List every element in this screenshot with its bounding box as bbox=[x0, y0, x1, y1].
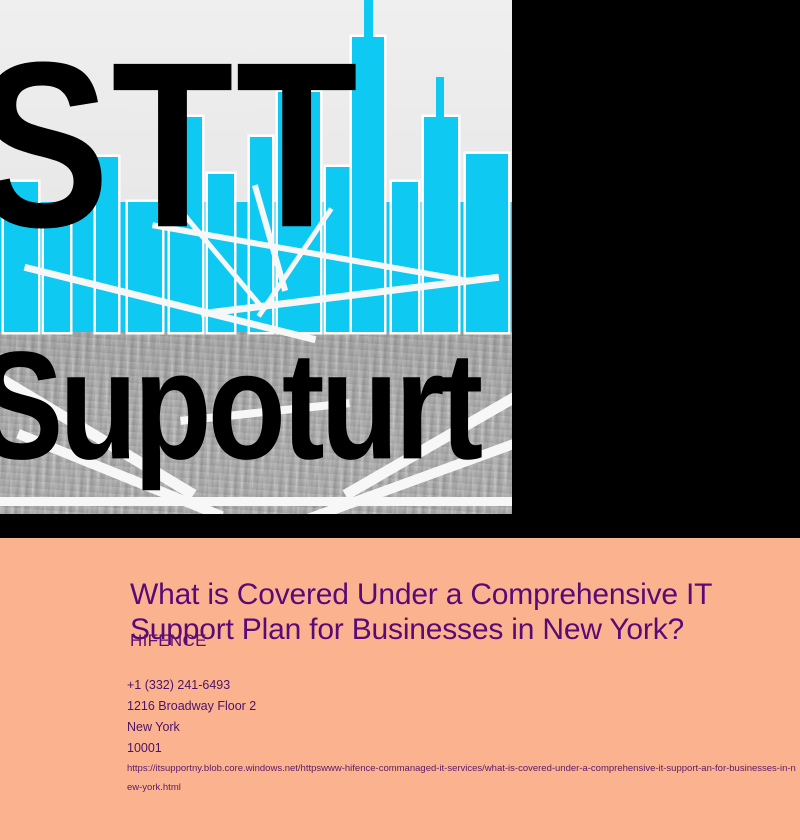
contact-phone[interactable]: +1 (332) 241-6493 bbox=[127, 675, 792, 696]
road-marking bbox=[0, 497, 512, 506]
contact-city: New York bbox=[127, 717, 792, 738]
article-info-panel: What is Covered Under a Comprehensive IT… bbox=[0, 538, 800, 840]
page-root: STT Supoturt What is Covered Under a Com… bbox=[0, 0, 800, 840]
skyline-spire bbox=[364, 0, 373, 332]
skyline-building bbox=[392, 182, 418, 332]
skyline-building bbox=[466, 154, 508, 332]
contact-zip: 10001 bbox=[127, 738, 792, 759]
brand-label: HIFENCE bbox=[130, 631, 207, 651]
media-letterbox-band: STT Supoturt bbox=[0, 0, 800, 538]
page-title: What is Covered Under a Comprehensive IT… bbox=[130, 578, 785, 648]
hero-overlay-text-bottom: Supoturt bbox=[0, 330, 479, 484]
skyline-spire bbox=[436, 77, 444, 332]
hero-overlay-text-top: STT bbox=[0, 28, 360, 264]
source-url-link[interactable]: https://itsupportny.blob.core.windows.ne… bbox=[127, 759, 799, 797]
hero-artwork: STT Supoturt bbox=[0, 0, 512, 514]
contact-street: 1216 Broadway Floor 2 bbox=[127, 696, 792, 717]
contact-block: +1 (332) 241-6493 1216 Broadway Floor 2 … bbox=[127, 675, 792, 759]
